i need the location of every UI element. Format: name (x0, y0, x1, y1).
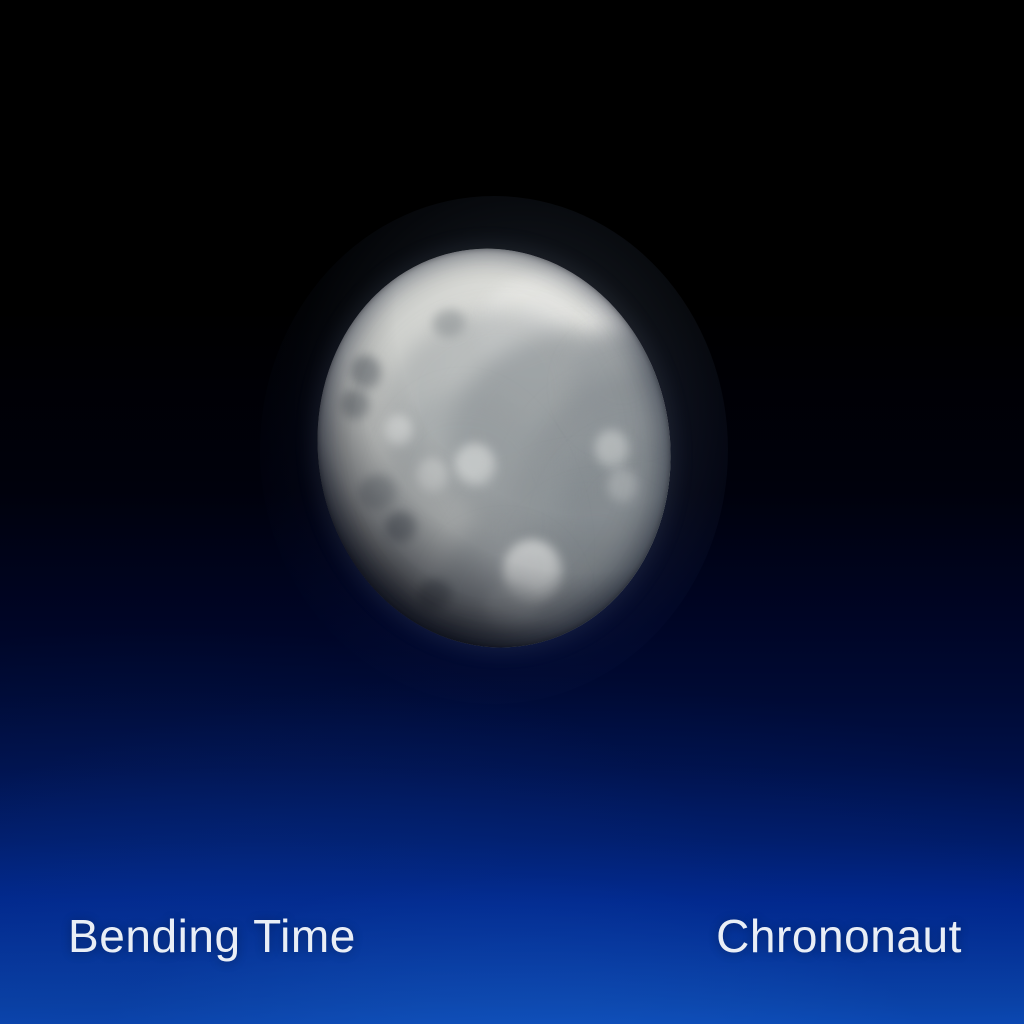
album-title: Bending Time (68, 913, 356, 959)
album-cover: Bending Time Chrononaut (0, 0, 1024, 1024)
moon-disc (289, 223, 699, 673)
moon-photograph (318, 248, 670, 648)
caption-bar: Bending Time Chrononaut (0, 874, 1024, 1024)
artist-name: Chrononaut (716, 913, 962, 959)
